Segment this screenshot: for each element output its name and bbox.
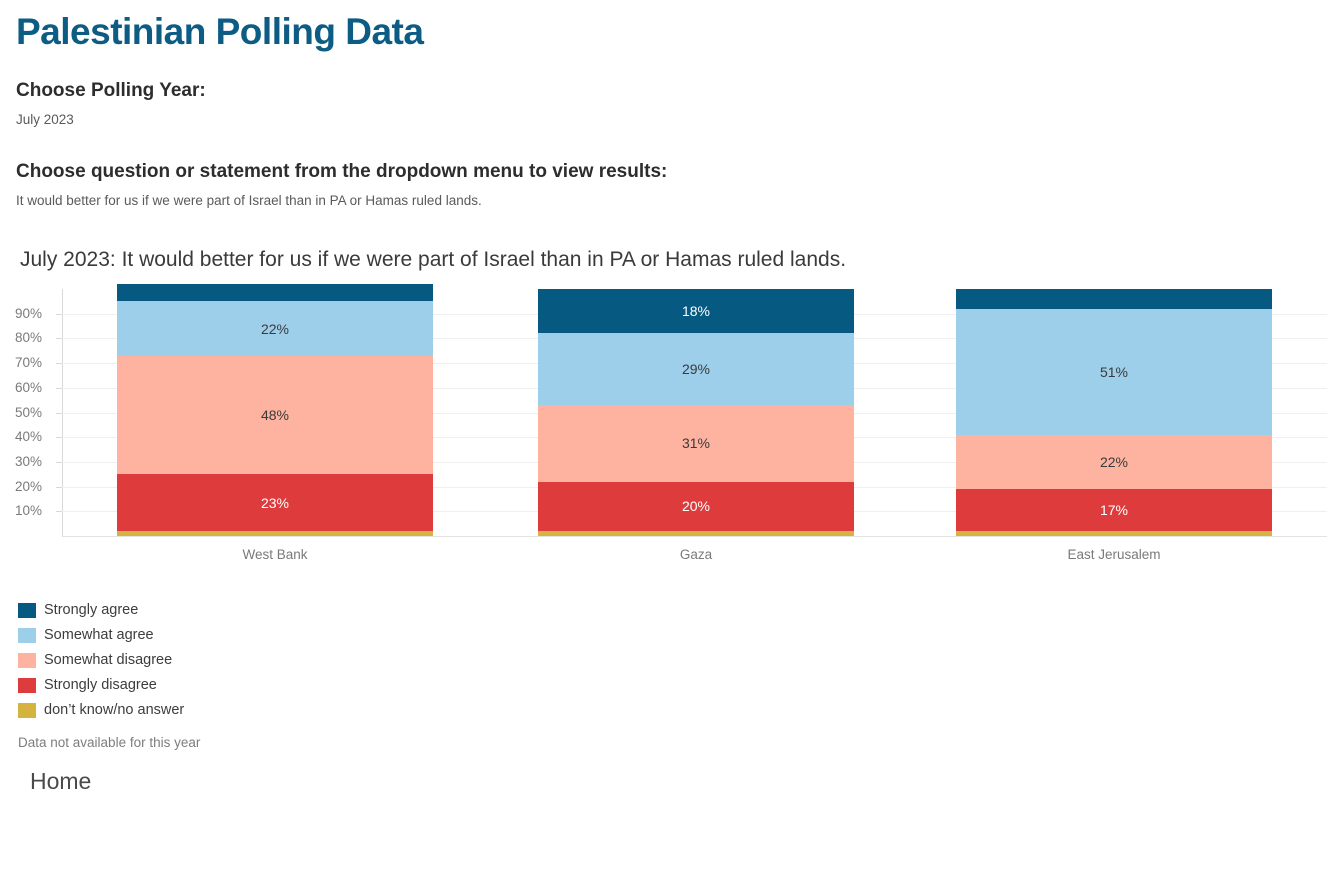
bar-segment[interactable]	[956, 531, 1272, 536]
x-axis-tick-label: East Jerusalem	[956, 547, 1272, 562]
y-axis-tick-mark	[56, 338, 62, 339]
y-axis-tick-label: 90%	[0, 306, 42, 321]
bar-segment-label: 22%	[1100, 455, 1128, 469]
legend-item[interactable]: Somewhat agree	[18, 623, 184, 648]
bar-segment[interactable]: 20%	[538, 482, 854, 531]
bar-segment-label: 20%	[682, 499, 710, 513]
bar-segment-label: 31%	[682, 436, 710, 450]
bar-segment[interactable]: 22%	[117, 301, 433, 355]
y-axis-tick-label: 80%	[0, 330, 42, 345]
y-axis-tick-mark	[56, 388, 62, 389]
stacked-bar[interactable]: 22%48%23%	[117, 284, 433, 536]
legend-swatch-icon	[18, 678, 36, 693]
polling-year-label: Choose Polling Year:	[16, 80, 206, 103]
bar-segment-label: 18%	[682, 304, 710, 318]
y-axis-tick-label: 30%	[0, 454, 42, 469]
data-availability-note: Data not available for this year	[18, 735, 200, 750]
stacked-bar[interactable]: 51%22%17%	[956, 289, 1272, 536]
bar-segment-label: 23%	[261, 496, 289, 510]
y-axis-tick-mark	[56, 437, 62, 438]
bar-segment[interactable]: 22%	[956, 435, 1272, 489]
y-axis-tick-mark	[56, 363, 62, 364]
bar-segment[interactable]: 48%	[117, 356, 433, 475]
y-axis-tick-label: 20%	[0, 479, 42, 494]
question-select-value[interactable]: It would better for us if we were part o…	[16, 193, 482, 209]
y-axis-tick-label: 70%	[0, 355, 42, 370]
legend-swatch-icon	[18, 653, 36, 668]
y-axis-tick-label: 40%	[0, 429, 42, 444]
legend-item-label: Strongly disagree	[44, 678, 157, 693]
y-axis-tick-mark	[56, 314, 62, 315]
bar-segment-label: 48%	[261, 408, 289, 422]
y-axis-tick-label: 50%	[0, 405, 42, 420]
home-link[interactable]: Home	[30, 768, 91, 795]
chart-title: July 2023: It would better for us if we …	[20, 248, 846, 272]
legend-item-label: Somewhat agree	[44, 628, 154, 643]
x-axis-baseline	[62, 536, 1327, 537]
legend-item[interactable]: Somewhat disagree	[18, 648, 184, 673]
y-axis-tick-mark	[56, 487, 62, 488]
legend-item[interactable]: Strongly disagree	[18, 673, 184, 698]
legend-swatch-icon	[18, 703, 36, 718]
y-axis-tick-mark	[56, 462, 62, 463]
legend-item-label: Strongly agree	[44, 603, 138, 618]
y-axis-tick-label: 10%	[0, 503, 42, 518]
legend-item-label: Somewhat disagree	[44, 653, 172, 668]
y-axis-tick-mark	[56, 511, 62, 512]
x-axis-tick-label: West Bank	[117, 547, 433, 562]
y-axis-tick-label: 60%	[0, 380, 42, 395]
y-axis-tick-mark	[56, 413, 62, 414]
bar-segment[interactable]: 18%	[538, 289, 854, 333]
legend-swatch-icon	[18, 603, 36, 618]
chart-legend: Strongly agreeSomewhat agreeSomewhat dis…	[18, 598, 184, 723]
legend-item[interactable]: Strongly agree	[18, 598, 184, 623]
legend-item[interactable]: don’t know/no answer	[18, 698, 184, 723]
polling-year-value[interactable]: July 2023	[16, 112, 74, 128]
bar-segment[interactable]	[956, 289, 1272, 309]
plot-wrapper: 90%80%70%60%50%40%30%20%10%22%48%23%West…	[0, 286, 1339, 536]
bar-segment[interactable]: 51%	[956, 309, 1272, 435]
legend-swatch-icon	[18, 628, 36, 643]
bar-segment-label: 17%	[1100, 503, 1128, 517]
bar-segment[interactable]	[117, 531, 433, 536]
x-axis-tick-label: Gaza	[538, 547, 854, 562]
bar-segment[interactable]	[538, 531, 854, 536]
bar-segment[interactable]: 17%	[956, 489, 1272, 531]
page-title: Palestinian Polling Data	[16, 12, 423, 53]
stacked-bar[interactable]: 18%29%31%20%	[538, 289, 854, 536]
bar-segment-label: 51%	[1100, 365, 1128, 379]
bar-segment-label: 22%	[261, 322, 289, 336]
bar-segment[interactable]: 31%	[538, 405, 854, 482]
legend-item-label: don’t know/no answer	[44, 703, 184, 718]
plot-area: 90%80%70%60%50%40%30%20%10%22%48%23%West…	[62, 289, 1327, 536]
question-select-label: Choose question or statement from the dr…	[16, 161, 667, 184]
bar-segment[interactable]: 23%	[117, 474, 433, 531]
bar-segment[interactable]	[117, 284, 433, 301]
bar-segment-label: 29%	[682, 362, 710, 376]
bar-segment[interactable]: 29%	[538, 333, 854, 405]
